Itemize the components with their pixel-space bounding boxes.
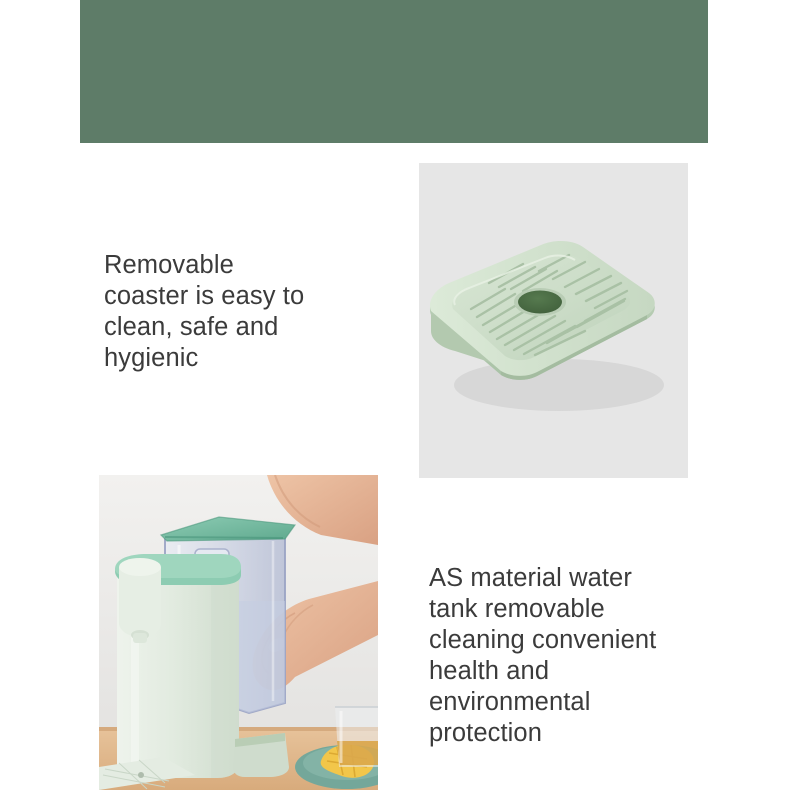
photo-glass	[335, 707, 378, 767]
water-dispenser-image	[99, 475, 378, 790]
top-green-banner	[80, 0, 708, 143]
coaster-feature-text: Removable coaster is easy to clean, safe…	[104, 250, 354, 374]
photo-spout-knob	[119, 558, 161, 643]
water-dispenser-illustration	[99, 475, 378, 790]
coaster-drain-hole	[514, 288, 566, 316]
water-tank-feature-text: AS material water tank removable cleanin…	[429, 563, 691, 749]
coaster-product-image	[419, 163, 688, 478]
coaster-illustration	[419, 163, 688, 478]
coaster-shadow	[454, 359, 664, 411]
product-feature-page: Removable coaster is easy to clean, safe…	[0, 0, 790, 790]
coaster-image-stage	[419, 163, 688, 478]
photo-drip-tray	[233, 733, 289, 777]
banner-fill	[82, 1, 707, 141]
